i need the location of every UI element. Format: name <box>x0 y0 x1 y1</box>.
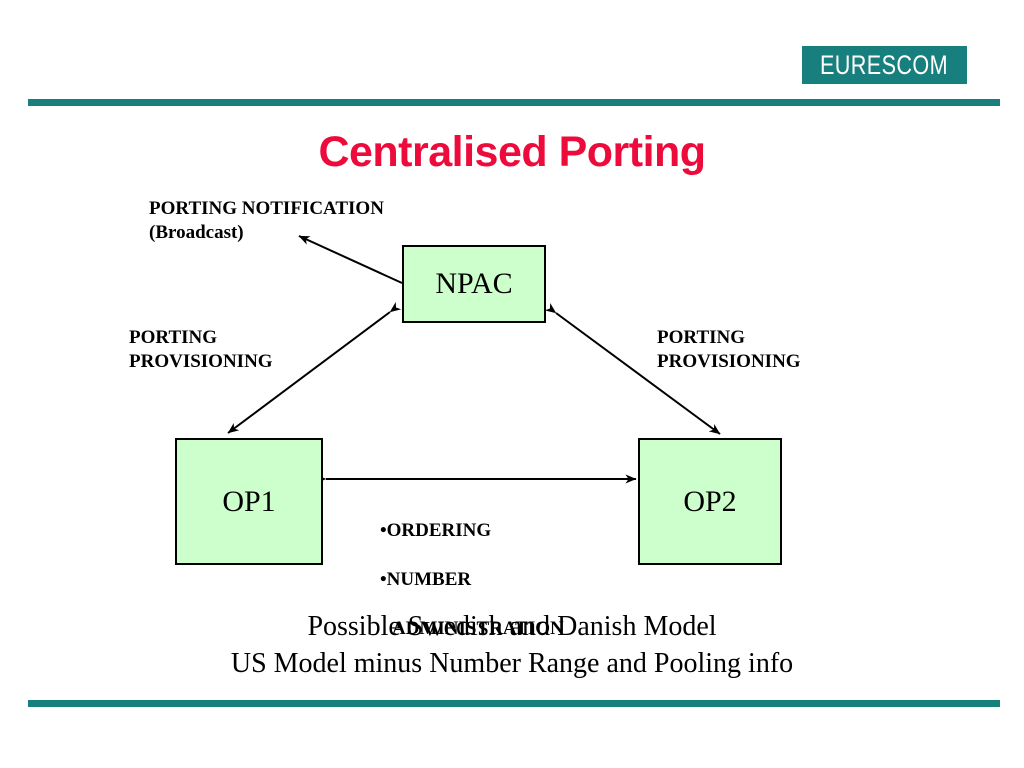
node-op2[interactable]: OP2 <box>638 438 782 565</box>
slide-caption: Possible Swedish and Danish Model US Mod… <box>0 608 1024 682</box>
top-divider-rule <box>28 99 1000 106</box>
bullet-ordering: •ORDERING <box>380 519 564 544</box>
eurescom-logo-text: EURESCOM <box>820 52 948 79</box>
bottom-divider-rule <box>28 700 1000 707</box>
slide-canvas: EURESCOM Centralised Porting NPAC OP1 OP… <box>0 0 1024 768</box>
eurescom-logo: EURESCOM <box>802 46 967 84</box>
label-porting-provisioning-right: PORTING PROVISIONING <box>657 326 801 375</box>
caption-line-2: US Model minus Number Range and Pooling … <box>0 645 1024 682</box>
label-porting-notification: PORTING NOTIFICATION (Broadcast) <box>149 197 384 246</box>
node-npac-label: NPAC <box>435 269 512 299</box>
node-op2-label: OP2 <box>683 487 736 517</box>
page-title: Centralised Porting <box>0 128 1024 177</box>
caption-line-1: Possible Swedish and Danish Model <box>0 608 1024 645</box>
node-npac[interactable]: NPAC <box>402 245 546 323</box>
bullet-number: •NUMBER <box>380 568 564 593</box>
node-op1-label: OP1 <box>222 487 275 517</box>
node-op1[interactable]: OP1 <box>175 438 323 565</box>
label-porting-provisioning-left: PORTING PROVISIONING <box>129 326 273 375</box>
